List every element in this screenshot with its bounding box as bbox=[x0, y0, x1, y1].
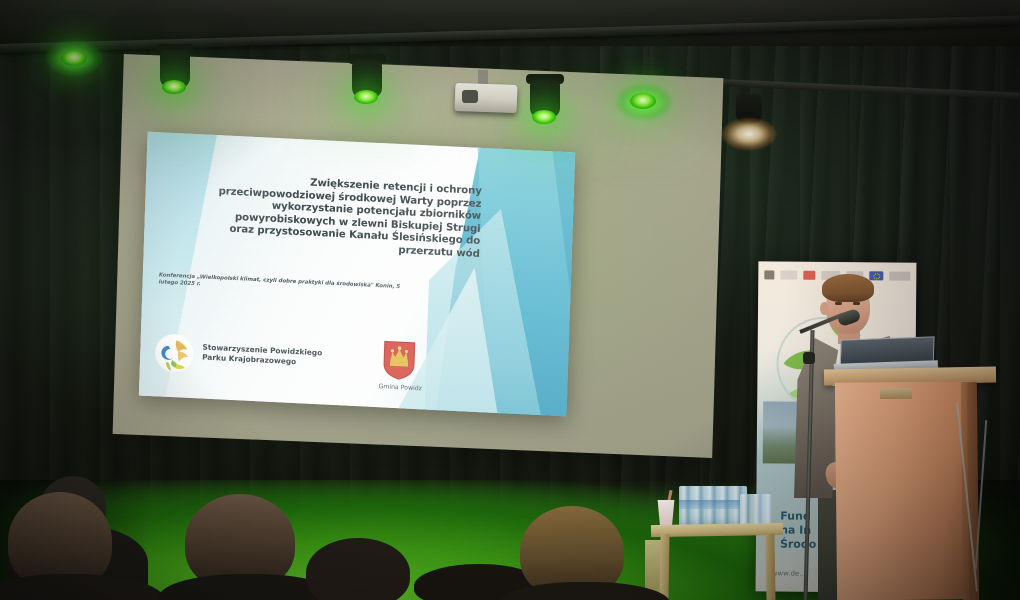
light-lens-5 bbox=[630, 93, 656, 109]
speaker-eye-left bbox=[835, 302, 842, 305]
speaker-hair bbox=[822, 274, 874, 302]
lectern-body bbox=[835, 381, 969, 600]
park-association-logo-icon bbox=[154, 332, 195, 374]
speaker-brow-left bbox=[834, 297, 843, 299]
banner-url: www.de... bbox=[772, 569, 806, 577]
conference-photo-scene: Zwiększenie retencji i ochrony przeciwpo… bbox=[0, 0, 1020, 600]
speaker-eye-right bbox=[853, 302, 860, 305]
light-lens-2 bbox=[162, 80, 186, 94]
projector-lens bbox=[462, 90, 478, 103]
water-pack-label bbox=[679, 500, 747, 509]
gmina-powidz-caption: Gmina Powidz bbox=[365, 383, 435, 393]
light-lens-4 bbox=[532, 110, 556, 124]
audience-head-4 bbox=[306, 538, 410, 600]
presentation-slide: Zwiększenie retencji i ochrony przeciwpo… bbox=[139, 132, 575, 417]
gmina-powidz-crest-icon bbox=[382, 339, 417, 381]
light-lens-1 bbox=[61, 50, 87, 66]
side-table-leg-left bbox=[659, 534, 669, 600]
lectern-plate bbox=[880, 388, 912, 399]
speaker-ear bbox=[820, 302, 829, 315]
park-association-name: Stowarzyszenie Powidzkiego Parku Krajobr… bbox=[202, 343, 322, 369]
side-table-top bbox=[651, 523, 783, 537]
light-glow-6 bbox=[722, 118, 776, 150]
audience-shoulders-5 bbox=[500, 582, 670, 600]
ministry-logo-icon bbox=[764, 270, 774, 279]
microphone-clamp bbox=[803, 352, 815, 364]
side-table-leg-right bbox=[765, 534, 775, 600]
slide-title: Zwiększenie retencji i ochrony przeciwpo… bbox=[208, 173, 482, 262]
audience-group-5 bbox=[512, 500, 652, 600]
ceiling-beam-upper bbox=[0, 0, 1020, 18]
speaker-brow-right bbox=[852, 297, 861, 299]
light-lens-3 bbox=[354, 90, 378, 104]
